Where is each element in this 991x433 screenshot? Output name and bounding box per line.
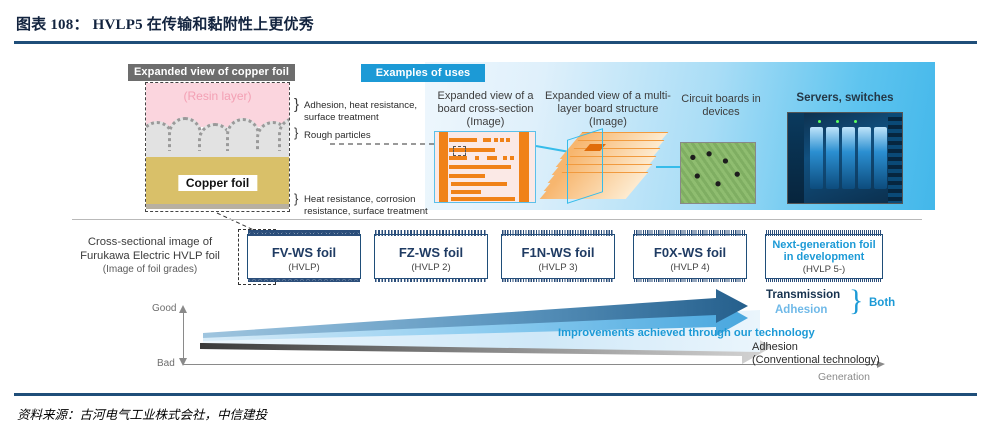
grade-box-fz-ws[interactable]: FZ-WS foil (HVLP 2) <box>374 234 488 279</box>
server-blade <box>858 127 871 189</box>
grade-box-next-generation[interactable]: Next-generation foil in development (HVL… <box>765 234 883 279</box>
header-divider <box>14 41 977 44</box>
grade-sub: (HVLP 2) <box>375 262 487 273</box>
annotation-improvements: Improvements achieved through our techno… <box>558 327 815 339</box>
caption-line-1: Circuit boards in <box>681 93 760 105</box>
roughness-profile-top <box>766 230 882 236</box>
grade-name: Next-generation foil in development <box>766 239 882 263</box>
note-adhesion: Adhesion, heat resistance,surface treatm… <box>304 100 417 123</box>
note-rough-particles: Rough particles <box>304 130 371 142</box>
roughness-profile-bottom <box>766 278 882 282</box>
annotation-conventional: Adhesion (Conventional technology) <box>752 341 880 367</box>
brace-icon: } <box>849 286 863 316</box>
y-axis <box>183 307 184 364</box>
figure-page: 图表 108： HVLP5 在传输和黏附性上更优秀 Expanded view … <box>0 0 991 433</box>
roughness-profile-bottom <box>375 278 487 282</box>
grade-box-f1n-ws[interactable]: F1N-WS foil (HVLP 3) <box>501 234 615 279</box>
y-axis-label-good: Good <box>152 303 176 314</box>
caption-line-1: Expanded view of a multi- <box>545 90 671 102</box>
note-heat-resistance: Heat resistance, corrosionresistance, su… <box>304 194 428 217</box>
section-divider <box>72 219 922 220</box>
roughness-profile-bottom <box>502 278 614 282</box>
roughness-profile-top <box>375 230 487 236</box>
grade-sub: (HVLP 3) <box>502 262 614 273</box>
roughness-profile-top <box>248 230 360 236</box>
copper-foil-header: Expanded view of copper foil <box>128 64 295 81</box>
grade-sub: (HVLP 4) <box>634 262 746 273</box>
examples-of-uses-banner: Examples of uses <box>361 64 485 82</box>
board-cross-section-image <box>434 131 536 203</box>
caption-circuit-boards: Circuit boards in devices <box>678 93 764 119</box>
copper-foil-label: Copper foil <box>178 175 257 191</box>
grade-name-line-2: in development <box>784 251 865 263</box>
grade-name: F1N-WS foil <box>502 245 614 260</box>
servers-switches-photo <box>787 112 903 204</box>
server-blade <box>874 127 887 189</box>
grade-name-line-1: Next-generation foil <box>772 239 875 251</box>
copper-foil-bottom-treatment <box>146 204 289 209</box>
caption-line-2: devices <box>702 106 739 118</box>
cs-label-line-3: (Image of foil grades) <box>103 264 198 275</box>
copper-foil-layer: Copper foil <box>146 157 289 209</box>
caption-multilayer-board: Expanded view of a multi- layer board st… <box>543 90 673 129</box>
cs-label-line-2: Furukawa Electric HVLP foil <box>80 250 220 262</box>
x-axis-label-generation: Generation <box>818 371 870 383</box>
resin-layer-label: (Resin layer) <box>146 89 289 103</box>
server-blade <box>826 127 839 189</box>
legend-transmission: Transmission <box>766 289 840 301</box>
caption-line-2: layer board structure <box>558 103 659 115</box>
roughness-profile-bottom <box>634 278 746 282</box>
legend-adhesion: Adhesion <box>775 304 827 316</box>
grade-sub: (HVLP) <box>248 262 360 273</box>
caption-line-1: Expanded view of a <box>437 90 533 102</box>
grade-box-f0x-ws[interactable]: F0X-WS foil (HVLP 4) <box>633 234 747 279</box>
caption-line-3: (Image) <box>467 116 505 128</box>
copper-foil-diagram: (Resin layer) Copper foil <box>145 82 290 212</box>
annotation-conventional-line-2: (Conventional technology) <box>752 354 880 366</box>
bracket-heat: } <box>294 191 298 206</box>
grade-name: FZ-WS foil <box>375 245 487 260</box>
multilayer-board-image <box>545 130 655 204</box>
grade-box-fv-ws[interactable]: FV-WS foil (HVLP) <box>247 234 361 279</box>
caption-line-2: board cross-section <box>438 103 534 115</box>
legend-both: Both <box>869 297 895 309</box>
circuit-board-photo <box>680 142 756 204</box>
cs-label-line-1: Cross-sectional image of <box>88 236 212 248</box>
roughness-profile-top <box>502 230 614 236</box>
page-title: 图表 108： HVLP5 在传输和黏附性上更优秀 <box>16 13 314 34</box>
footer-divider <box>14 393 977 396</box>
grade-name: FV-WS foil <box>248 245 360 260</box>
annotation-conventional-line-1: Adhesion <box>752 341 798 353</box>
caption-board-cross-section: Expanded view of a board cross-section (… <box>428 90 543 129</box>
cross-section-label: Cross-sectional image of Furukawa Electr… <box>70 236 230 277</box>
cut-plane-indicator <box>567 128 603 204</box>
bracket-rough: } <box>294 125 298 140</box>
roughness-profile-top <box>634 230 746 236</box>
bracket-adhesion: } <box>294 96 299 113</box>
server-blade <box>842 127 855 189</box>
caption-servers-switches: Servers, switches <box>789 92 901 105</box>
caption-line-3: (Image) <box>589 116 627 128</box>
roughness-profile-bottom <box>248 278 360 282</box>
grade-name: F0X-WS foil <box>634 245 746 260</box>
grade-sub: (HVLP 5-) <box>766 264 882 275</box>
server-blade <box>810 127 823 189</box>
y-axis-label-bad: Bad <box>157 358 175 369</box>
source-note: 资料来源：古河电气工业株式会社，中信建投 <box>17 404 267 423</box>
